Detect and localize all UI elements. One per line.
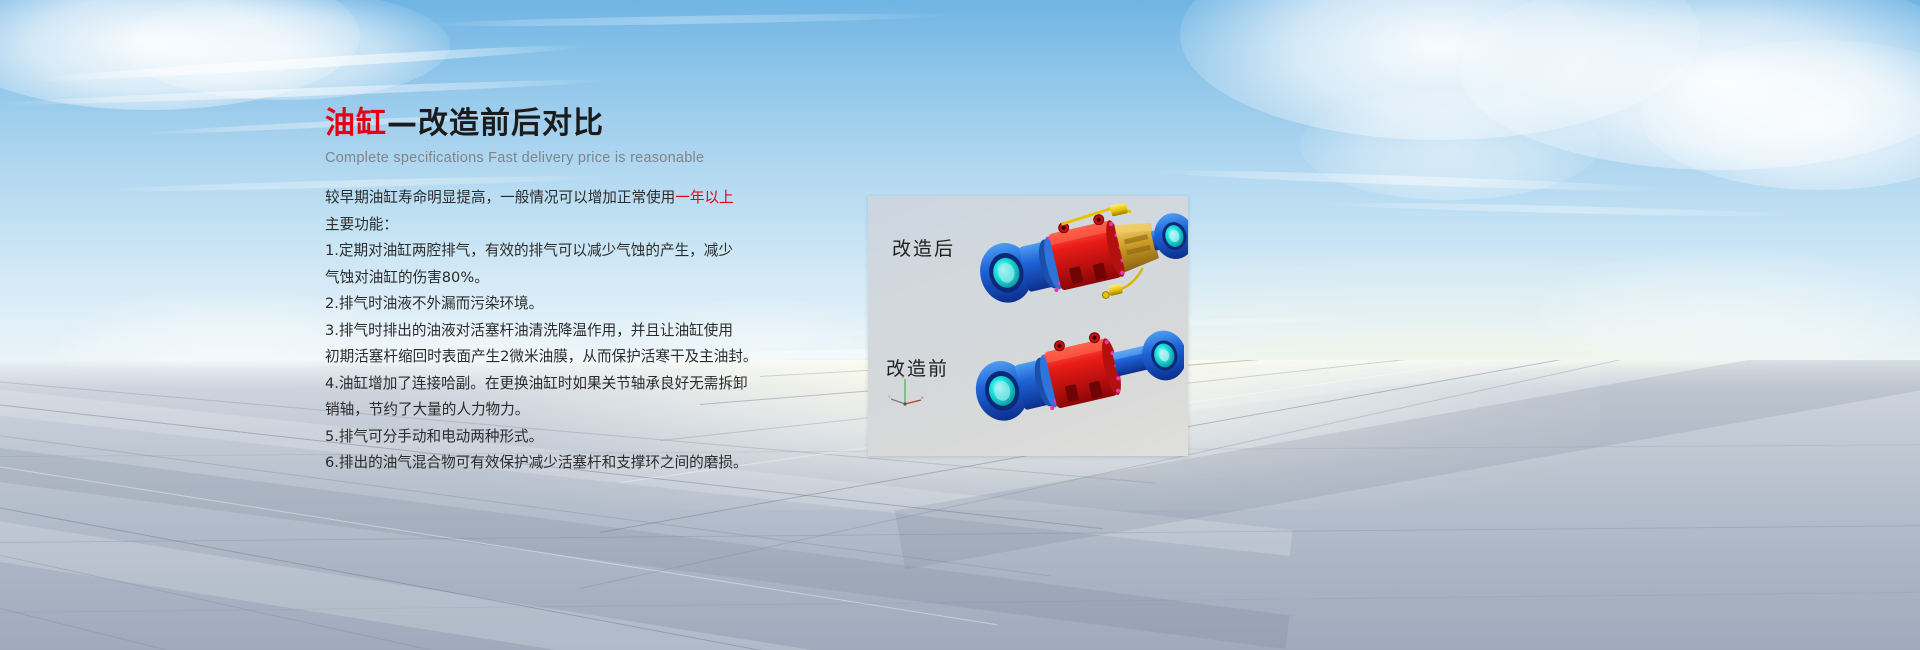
feature-line: 1.定期对油缸两腔排气，有效的排气可以减少气蚀的产生，减少: [325, 238, 885, 265]
intro-text: 较早期油缸寿命明显提高，一般情况可以增加正常使用: [325, 189, 675, 206]
svg-text:X: X: [921, 395, 924, 400]
feature-line: 销轴，节约了大量的人力物力。: [325, 397, 885, 424]
svg-text:Z: Z: [902, 374, 905, 379]
pavement-seam: [0, 592, 1920, 613]
section-label: 主要功能：: [325, 212, 885, 239]
feature-line: 5.排气可分手动和电动两种形式。: [325, 424, 885, 451]
pavement-line: [0, 546, 888, 650]
intro-line: 较早期油缸寿命明显提高，一般情况可以增加正常使用一年以上: [325, 185, 885, 212]
banner-copy-block: 油缸—改造前后对比 Complete specifications Fast d…: [325, 104, 885, 477]
page-subtitle: Complete specifications Fast delivery pr…: [325, 150, 885, 166]
feature-description: 较早期油缸寿命明显提高，一般情况可以增加正常使用一年以上 主要功能： 1.定期对…: [325, 185, 885, 477]
pavement-seam: [0, 525, 1920, 543]
pavement-band: [0, 490, 1285, 650]
feature-line: 初期活塞杆缩回时表面产生2微米油膜，从而保护活寒干及主油封。: [325, 344, 885, 371]
pavement-line: [0, 500, 943, 650]
label-after-retrofit: 改造后: [892, 234, 955, 261]
product-comparison-panel: 改造后 改造前 Z Y X: [868, 196, 1188, 456]
headline-rest: —改造前后对比: [387, 106, 604, 141]
hero-banner: 油缸—改造前后对比 Complete specifications Fast d…: [0, 0, 1920, 650]
feature-line: 2.排气时油液不外漏而污染环境。: [325, 291, 885, 318]
pavement-line: [0, 460, 997, 625]
feature-line: 6.排出的油气混合物可有效保护减少活塞杆和支撑环之间的磨损。: [325, 450, 885, 477]
feature-line: 4.油缸增加了连接哈副。在更换油缸时如果关节轴承良好无需拆卸: [325, 371, 885, 398]
headline-highlight: 油缸: [325, 106, 387, 141]
cad-render-after: [972, 204, 1188, 322]
pavement-line: [0, 598, 833, 650]
cad-render-before: [968, 318, 1184, 446]
page-title: 油缸—改造前后对比: [325, 104, 885, 144]
intro-highlight: 一年以上: [675, 189, 733, 206]
feature-line: 3.排气时排出的油液对活塞杆油清洗降温作用，并且让油缸使用: [325, 318, 885, 345]
svg-text:Y: Y: [888, 394, 891, 399]
coordinate-axis-icon: Z Y X: [888, 374, 926, 408]
feature-line: 气蚀对油缸的伤害80%。: [325, 265, 885, 292]
